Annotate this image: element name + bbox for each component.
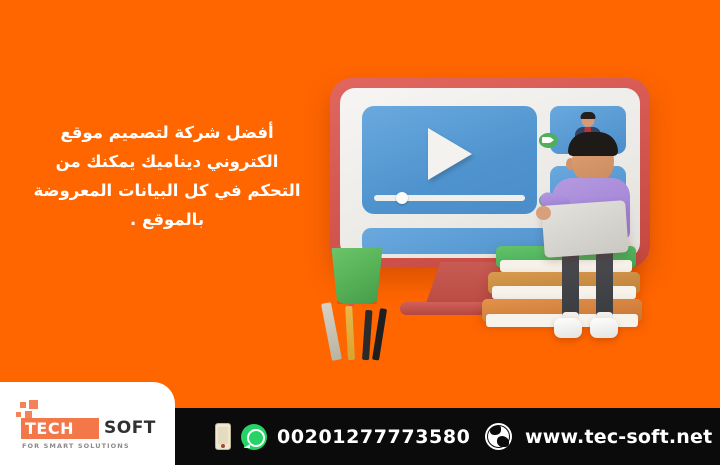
person-hair — [568, 132, 618, 156]
video-camera-badge — [539, 133, 558, 148]
logo-panel: TECH SOFT FOR SMART SOLUTIONS — [0, 382, 175, 465]
banner-canvas: أفضل شركة لتصميم موقع الكتروني ديناميك ي… — [0, 0, 720, 465]
person-shoe — [554, 318, 582, 338]
pixel-square-icon — [25, 411, 32, 418]
headline-text: أفضل شركة لتصميم موقع الكتروني ديناميك ي… — [22, 118, 312, 234]
logo-tagline: FOR SMART SOLUTIONS — [22, 442, 130, 450]
logo-tech-text: TECH — [25, 419, 95, 438]
pixel-square-icon — [16, 412, 21, 417]
phone-number[interactable]: 00201277773580 — [277, 426, 470, 448]
headline-line-3: التحكم في كل البيانات المعروضة — [22, 176, 312, 205]
logo-soft-text: SOFT — [104, 418, 156, 438]
whatsapp-icon[interactable] — [241, 424, 267, 450]
whatsapp-handset — [251, 433, 260, 444]
website-url[interactable]: www.tec-soft.net — [525, 426, 712, 448]
play-triangle-icon — [428, 128, 472, 180]
contact-phone-group[interactable]: 00201277773580 — [215, 408, 470, 465]
pixel-square-icon — [20, 402, 26, 408]
pen-icon — [372, 308, 387, 360]
pencil-cup — [328, 248, 386, 304]
person-shoe — [590, 318, 618, 338]
camera-lens-icon — [550, 137, 554, 143]
globe-ring — [487, 425, 510, 448]
headline-line-2: الكتروني ديناميك يمكنك من — [22, 147, 312, 176]
pixel-square-icon — [29, 400, 38, 409]
pen-icon — [362, 310, 372, 360]
avatar-hair — [581, 112, 596, 119]
laptop-icon — [541, 200, 628, 258]
person-hand — [536, 206, 551, 220]
camera-body-icon — [542, 137, 550, 143]
ruler-icon — [321, 302, 342, 361]
whatsapp-tail — [244, 439, 250, 448]
globe-icon — [485, 423, 512, 450]
contact-website-group[interactable]: www.tec-soft.net — [485, 408, 712, 465]
headline-line-1: أفضل شركة لتصميم موقع — [22, 118, 312, 147]
progress-knob — [396, 192, 408, 204]
headline-line-4: بالموقع . — [22, 205, 312, 234]
progress-track — [374, 195, 525, 201]
techsoft-logo[interactable]: TECH SOFT FOR SMART SOLUTIONS — [16, 400, 166, 448]
hero-illustration — [300, 60, 720, 360]
video-player — [362, 106, 537, 214]
pencil-icon — [345, 306, 355, 360]
smartphone-icon — [215, 423, 231, 450]
